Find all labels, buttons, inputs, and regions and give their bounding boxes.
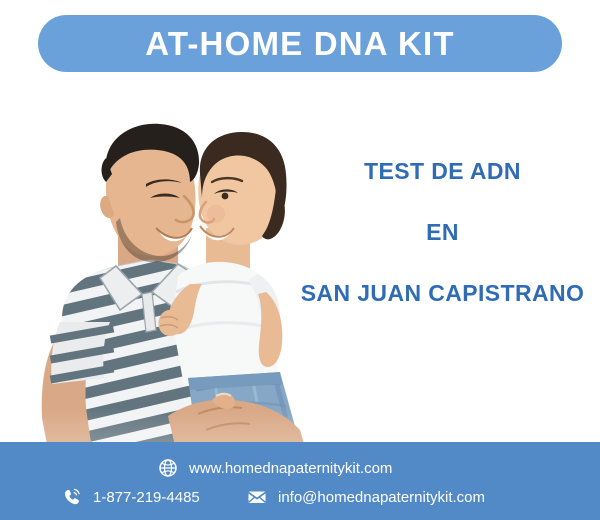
globe-icon — [158, 458, 178, 478]
headline-block: TEST DE ADN EN SAN JUAN CAPISTRANO — [285, 160, 600, 305]
family-photo — [0, 78, 320, 450]
footer-phone-text: 1-877-219-4485 — [93, 490, 200, 505]
title-banner-text: AT-HOME DNA KIT — [145, 27, 454, 60]
footer-website-text: www.homednapaternitykit.com — [189, 461, 392, 476]
headline-line-3: SAN JUAN CAPISTRANO — [285, 282, 600, 305]
footer-email-text: info@homednapaternitykit.com — [278, 490, 485, 505]
title-banner: AT-HOME DNA KIT — [38, 15, 562, 72]
headline-line-2: EN — [285, 221, 600, 244]
poster-canvas: AT-HOME DNA KIT — [0, 0, 600, 520]
footer-website-row[interactable]: www.homednapaternitykit.com — [158, 458, 392, 478]
headline-line-1: TEST DE ADN — [285, 160, 600, 183]
envelope-icon — [247, 487, 267, 507]
footer-phone-row[interactable]: 1-877-219-4485 — [62, 487, 200, 507]
contact-footer-bar — [0, 442, 600, 520]
footer-email-row[interactable]: info@homednapaternitykit.com — [247, 487, 485, 507]
phone-icon — [62, 487, 82, 507]
